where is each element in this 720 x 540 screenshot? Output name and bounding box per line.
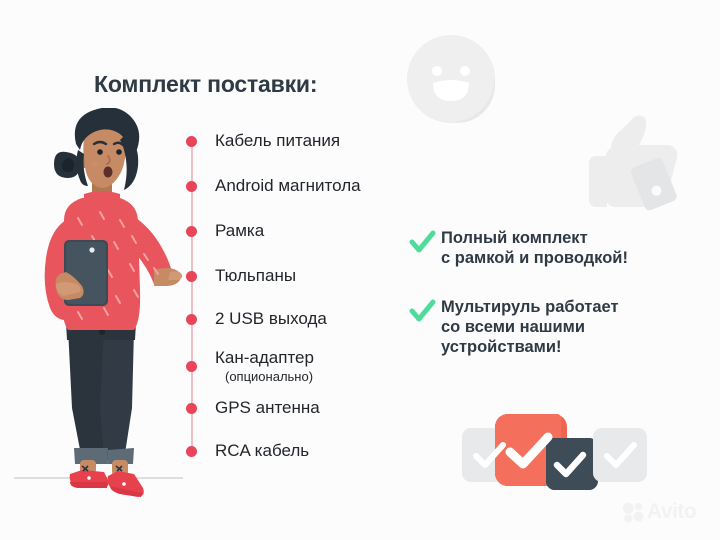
bullet-dot-icon: [186, 271, 197, 282]
package-contents-list: Кабель питания Android магнитола Рамка Т…: [178, 130, 418, 460]
bullet-dot-icon: [186, 446, 197, 457]
checkbox-ghost-right-icon: [593, 428, 647, 482]
benefit-line-1: Полный комплект: [441, 229, 588, 247]
benefit-line-1: Мультируль работает: [441, 298, 619, 316]
check-mark-icon: [409, 229, 436, 256]
avito-watermark: Avito: [621, 498, 709, 525]
avito-logo-icon: [621, 500, 645, 524]
list-item: Кабель питания: [178, 132, 340, 151]
benefit-line-2: со всеми нашими: [441, 318, 585, 336]
smiley-face-icon: [405, 33, 497, 125]
avito-watermark-text: Avito: [647, 501, 696, 522]
bullet-dot-icon: [186, 403, 197, 414]
list-item-sub-label: (опционально): [225, 370, 314, 384]
checkbox-cards-group: [462, 412, 647, 498]
promo-canvas: Комплект поставки:: [0, 0, 720, 540]
list-item-main-label: Кан-адаптер: [215, 348, 314, 367]
list-item: Android магнитола: [178, 177, 361, 196]
benefit-item: Полный комплект с рамкой и проводкой!: [409, 228, 628, 268]
bullet-dot-icon: [186, 226, 197, 237]
page-title: Комплект поставки:: [94, 71, 317, 98]
list-item-label: Android магнитола: [215, 177, 361, 196]
benefit-line-3: устройствами!: [441, 338, 562, 356]
bullet-dot-icon: [186, 314, 197, 325]
list-item-label: Тюльпаны: [215, 267, 296, 286]
list-item-label: RCA кабель: [215, 442, 309, 461]
bullet-dot-icon: [186, 361, 197, 372]
benefit-line-2: с рамкой и проводкой!: [441, 249, 628, 267]
list-item-label: Рамка: [215, 222, 264, 241]
woman-pointing-illustration: [8, 108, 183, 504]
list-item: GPS антенна: [178, 399, 320, 418]
list-item: Рамка: [178, 222, 264, 241]
list-item-label: Кабель питания: [215, 132, 340, 151]
list-item-label: Кан-адаптер (опционально): [215, 349, 314, 384]
bullet-dot-icon: [186, 181, 197, 192]
benefit-label: Мультируль работает со всеми нашими устр…: [441, 297, 619, 357]
bullet-dot-icon: [186, 136, 197, 147]
list-item: Тюльпаны: [178, 267, 296, 286]
thumbs-up-icon: [575, 112, 693, 220]
checkbox-dark-icon: [546, 438, 598, 490]
check-mark-icon: [409, 298, 436, 325]
list-item: Кан-адаптер (опционально): [178, 349, 314, 384]
list-item: 2 USB выхода: [178, 310, 327, 329]
benefit-item: Мультируль работает со всеми нашими устр…: [409, 297, 619, 357]
list-item-label: GPS антенна: [215, 399, 320, 418]
list-item-label: 2 USB выхода: [215, 310, 327, 329]
list-item: RCA кабель: [178, 442, 309, 461]
benefit-label: Полный комплект с рамкой и проводкой!: [441, 228, 628, 268]
